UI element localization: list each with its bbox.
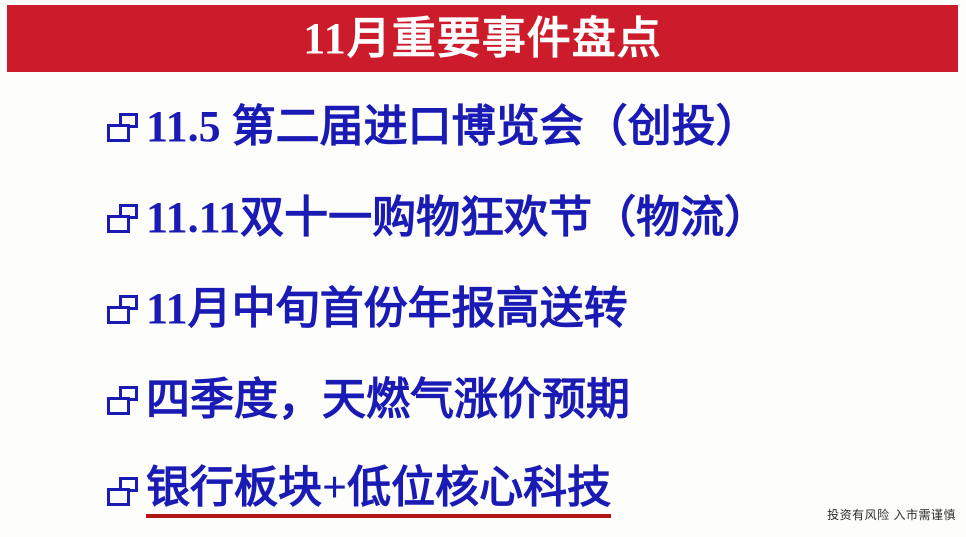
list-item-label: 11.5 第二届进口博览会（创投） bbox=[146, 104, 760, 150]
list-item-label: 11.11双十一购物狂欢节（物流） bbox=[146, 195, 768, 241]
list-item-label: 11月中旬首份年报高送转 bbox=[146, 286, 628, 332]
cascade-windows-icon bbox=[106, 294, 140, 328]
list-item: 银行板块+低位核心科技 bbox=[0, 446, 966, 537]
list-item: 11.11双十一购物狂欢节（物流） bbox=[0, 173, 966, 264]
cascade-windows-icon bbox=[106, 203, 140, 237]
list-item-label-highlighted: 银行板块+低位核心科技 bbox=[146, 465, 611, 517]
list-item: 四季度，天燃气涨价预期 bbox=[0, 355, 966, 446]
page-title: 11月重要事件盘点 bbox=[303, 17, 662, 61]
cascade-windows-icon bbox=[106, 385, 140, 419]
list-item: 11.5 第二届进口博览会（创投） bbox=[0, 82, 966, 173]
list-item-label: 四季度，天燃气涨价预期 bbox=[146, 377, 630, 423]
cascade-windows-icon bbox=[106, 112, 140, 146]
slide-canvas: 11月重要事件盘点 11.5 第二届进口博览会（创投） 11.11双十一购物狂欢… bbox=[0, 0, 966, 531]
disclaimer-watermark: 投资有风险 入市需谨慎 bbox=[827, 506, 956, 523]
cascade-windows-icon bbox=[106, 476, 140, 510]
title-banner: 11月重要事件盘点 bbox=[7, 5, 958, 72]
list-item: 11月中旬首份年报高送转 bbox=[0, 264, 966, 355]
bullet-list: 11.5 第二届进口博览会（创投） 11.11双十一购物狂欢节（物流） 11月中… bbox=[0, 82, 966, 537]
